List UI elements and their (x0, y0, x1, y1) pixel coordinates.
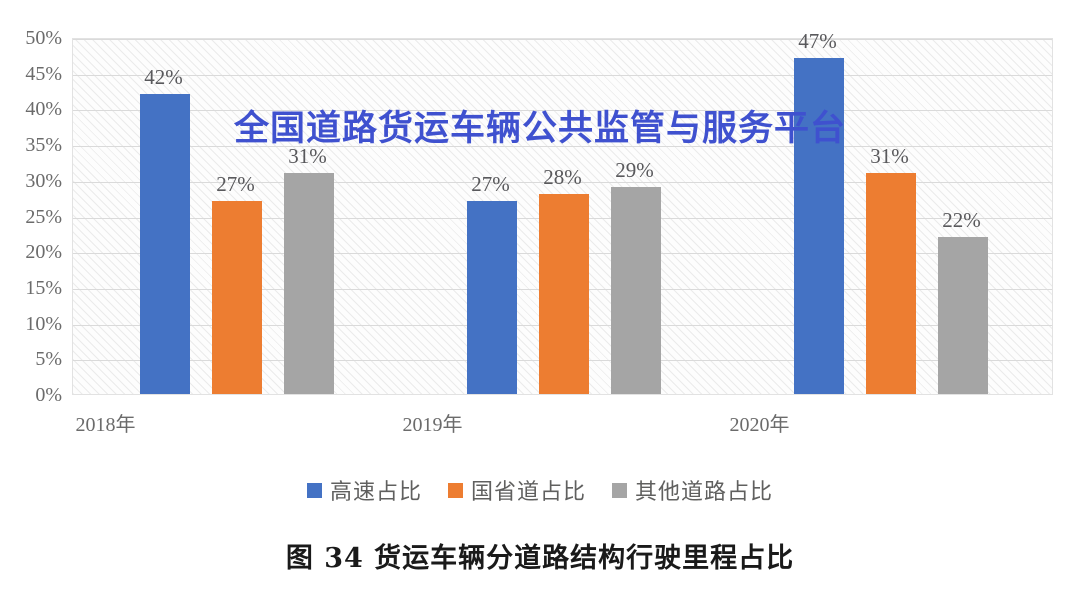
legend-item[interactable]: 国省道占比 (448, 474, 586, 506)
legend-label: 高速占比 (330, 474, 422, 506)
legend-label: 国省道占比 (471, 474, 586, 506)
bar (467, 201, 517, 394)
bar (539, 194, 589, 394)
bar-value-label: 22% (942, 210, 981, 231)
bar (212, 201, 262, 394)
bar (140, 94, 190, 394)
bar (866, 173, 916, 394)
bar-value-label: 31% (870, 146, 909, 167)
x-axis-tick-label: 2018年 (76, 408, 136, 437)
gridline (73, 110, 1052, 111)
chart-plot-area (72, 38, 1053, 395)
y-axis-tick-label: 5% (2, 349, 62, 369)
figure-caption: 图 34 货运车辆分道路结构行驶里程占比 (0, 536, 1080, 575)
y-axis-tick-label: 10% (2, 314, 62, 334)
legend-label: 其他道路占比 (635, 474, 773, 506)
bar (284, 173, 334, 394)
y-axis-tick-label: 15% (2, 278, 62, 298)
bar-value-label: 29% (615, 160, 654, 181)
y-axis-tick-label: 35% (2, 135, 62, 155)
x-axis-tick-label: 2020年 (730, 408, 790, 437)
bar (611, 187, 661, 394)
gridline (73, 39, 1052, 40)
x-axis-tick-label: 2019年 (403, 408, 463, 437)
figure-container: 0%5%10%15%20%25%30%35%40%45%50% 2018年201… (0, 0, 1080, 596)
bar-value-label: 28% (543, 167, 582, 188)
bar-value-label: 31% (288, 146, 327, 167)
legend-item[interactable]: 其他道路占比 (612, 474, 773, 506)
bar (938, 237, 988, 394)
y-axis-tick-label: 50% (2, 28, 62, 48)
bar-value-label: 27% (471, 174, 510, 195)
legend-swatch-icon (307, 483, 322, 498)
bar (794, 58, 844, 394)
bar-value-label: 42% (144, 67, 183, 88)
bar-value-label: 27% (216, 174, 255, 195)
chart-legend: 高速占比国省道占比其他道路占比 (0, 474, 1080, 506)
y-axis-tick-label: 20% (2, 242, 62, 262)
bar-value-label: 47% (798, 31, 837, 52)
gridline (73, 75, 1052, 76)
y-axis-tick-label: 30% (2, 171, 62, 191)
legend-swatch-icon (612, 483, 627, 498)
y-axis-tick-label: 0% (2, 385, 62, 405)
legend-item[interactable]: 高速占比 (307, 474, 422, 506)
legend-swatch-icon (448, 483, 463, 498)
y-axis-tick-label: 25% (2, 207, 62, 227)
y-axis-tick-label: 40% (2, 99, 62, 119)
y-axis-tick-label: 45% (2, 64, 62, 84)
